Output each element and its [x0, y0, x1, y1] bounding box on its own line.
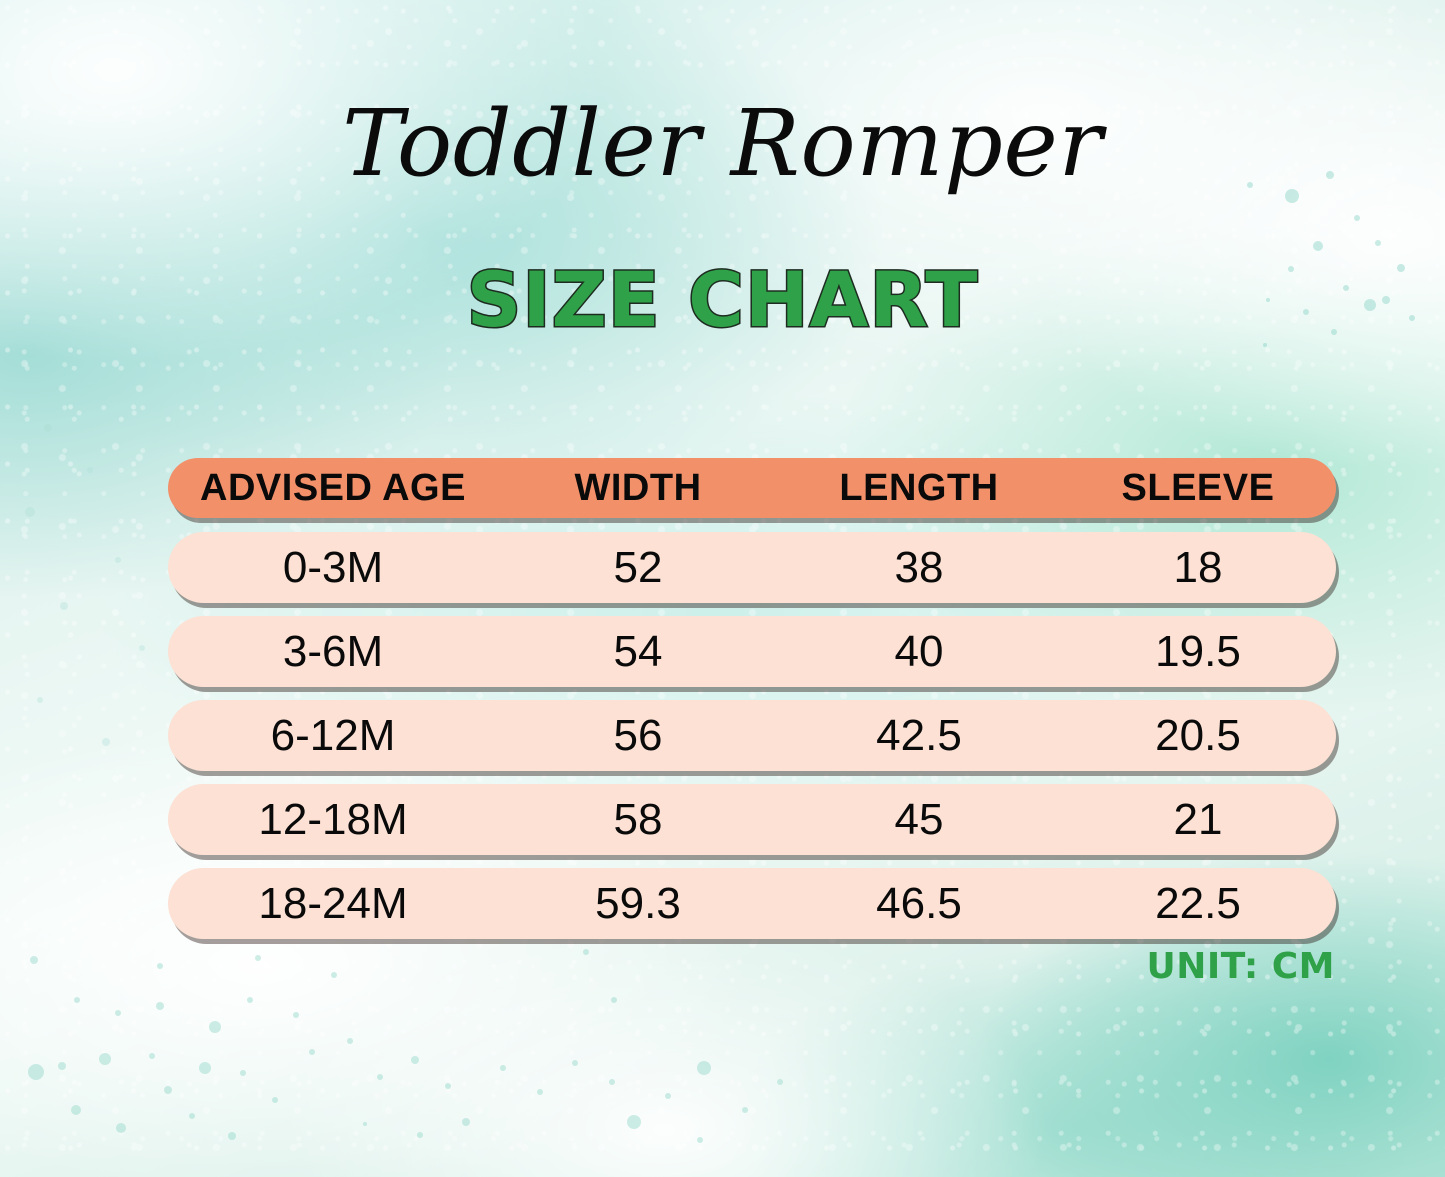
- cell-length: 40: [778, 627, 1060, 677]
- cell-sleeve: 20.5: [1060, 711, 1336, 761]
- cell-advised-age: 12-18M: [168, 795, 498, 845]
- cell-width: 52: [498, 543, 778, 593]
- column-header-width: WIDTH: [498, 467, 778, 510]
- cell-width: 54: [498, 627, 778, 677]
- cell-sleeve: 19.5: [1060, 627, 1336, 677]
- cell-sleeve: 18: [1060, 543, 1336, 593]
- table-row: 6-12M 56 42.5 20.5: [168, 700, 1336, 771]
- cell-advised-age: 3-6M: [168, 627, 498, 677]
- table-row: 18-24M 59.3 46.5 22.5: [168, 868, 1336, 939]
- table-row: 0-3M 52 38 18: [168, 532, 1336, 603]
- page-title: Toddler Romper: [0, 96, 1445, 193]
- cell-width: 59.3: [498, 879, 778, 929]
- column-header-advised-age: ADVISED AGE: [168, 467, 498, 510]
- table-row: 3-6M 54 40 19.5: [168, 616, 1336, 687]
- cell-advised-age: 0-3M: [168, 543, 498, 593]
- cell-length: 45: [778, 795, 1060, 845]
- cell-sleeve: 22.5: [1060, 879, 1336, 929]
- table-row: 12-18M 58 45 21: [168, 784, 1336, 855]
- column-header-sleeve: SLEEVE: [1060, 467, 1336, 510]
- unit-label: UNIT: CM: [1146, 946, 1335, 987]
- cell-advised-age: 18-24M: [168, 879, 498, 929]
- size-chart-canvas: Toddler Romper SIZE CHART ADVISED AGE WI…: [0, 0, 1445, 1177]
- size-chart-heading: SIZE CHART: [0, 262, 1445, 338]
- cell-length: 42.5: [778, 711, 1060, 761]
- column-header-length: LENGTH: [778, 467, 1060, 510]
- cell-sleeve: 21: [1060, 795, 1336, 845]
- size-chart-table: ADVISED AGE WIDTH LENGTH SLEEVE 0-3M 52 …: [168, 458, 1336, 952]
- cell-width: 56: [498, 711, 778, 761]
- cell-width: 58: [498, 795, 778, 845]
- cell-length: 38: [778, 543, 1060, 593]
- table-header-row: ADVISED AGE WIDTH LENGTH SLEEVE: [168, 458, 1336, 518]
- cell-advised-age: 6-12M: [168, 711, 498, 761]
- cell-length: 46.5: [778, 879, 1060, 929]
